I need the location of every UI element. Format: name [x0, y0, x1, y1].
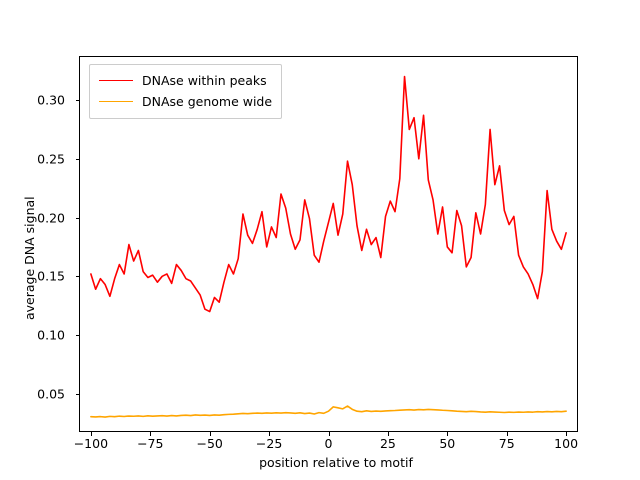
x-tick-label: 25: [380, 436, 396, 451]
y-tick-mark: [76, 159, 80, 160]
legend-item: DNAse genome wide: [99, 91, 272, 112]
x-tick-label: −50: [196, 436, 222, 451]
series-line: [91, 406, 566, 417]
legend-item: DNAse within peaks: [99, 70, 272, 91]
legend-label: DNAse within peaks: [142, 73, 267, 88]
x-tick-label: −100: [74, 436, 108, 451]
legend-swatch-dnase-genome-wide: [99, 101, 133, 102]
x-tick-mark: [507, 432, 508, 436]
y-tick-label: 0.10: [37, 328, 65, 343]
y-tick-label: 0.20: [37, 210, 65, 225]
x-tick-label: 0: [325, 436, 333, 451]
legend-label: DNAse genome wide: [142, 94, 272, 109]
x-tick-mark: [210, 432, 211, 436]
x-tick-label: −75: [137, 436, 163, 451]
x-tick-mark: [566, 432, 567, 436]
y-tick-label: 0.15: [37, 269, 65, 284]
y-tick-mark: [76, 276, 80, 277]
y-tick-label: 0.25: [37, 151, 65, 166]
x-axis-label-text: position relative to motif: [259, 455, 413, 470]
y-axis-label: average DNA signal: [22, 196, 37, 320]
x-tick-label: −25: [256, 436, 282, 451]
y-tick-label: 0.05: [37, 386, 65, 401]
x-tick-mark: [150, 432, 151, 436]
y-tick-label: 0.30: [37, 93, 65, 108]
x-tick-label: 100: [554, 436, 578, 451]
x-tick-mark: [447, 432, 448, 436]
x-tick-mark: [269, 432, 270, 436]
legend: DNAse within peaks DNAse genome wide: [89, 64, 282, 119]
y-tick-mark: [76, 100, 80, 101]
x-tick-label: 50: [439, 436, 455, 451]
x-tick-mark: [91, 432, 92, 436]
x-tick-mark: [388, 432, 389, 436]
y-tick-mark: [76, 394, 80, 395]
matplotlib-figure: −100−75−50−250255075100 0.050.100.150.20…: [0, 0, 640, 480]
x-tick-label: 75: [499, 436, 515, 451]
x-axis-label: position relative to motif: [0, 455, 640, 470]
legend-swatch-dnase-within-peaks: [99, 80, 133, 81]
y-tick-mark: [76, 218, 80, 219]
y-tick-mark: [76, 335, 80, 336]
x-tick-mark: [329, 432, 330, 436]
